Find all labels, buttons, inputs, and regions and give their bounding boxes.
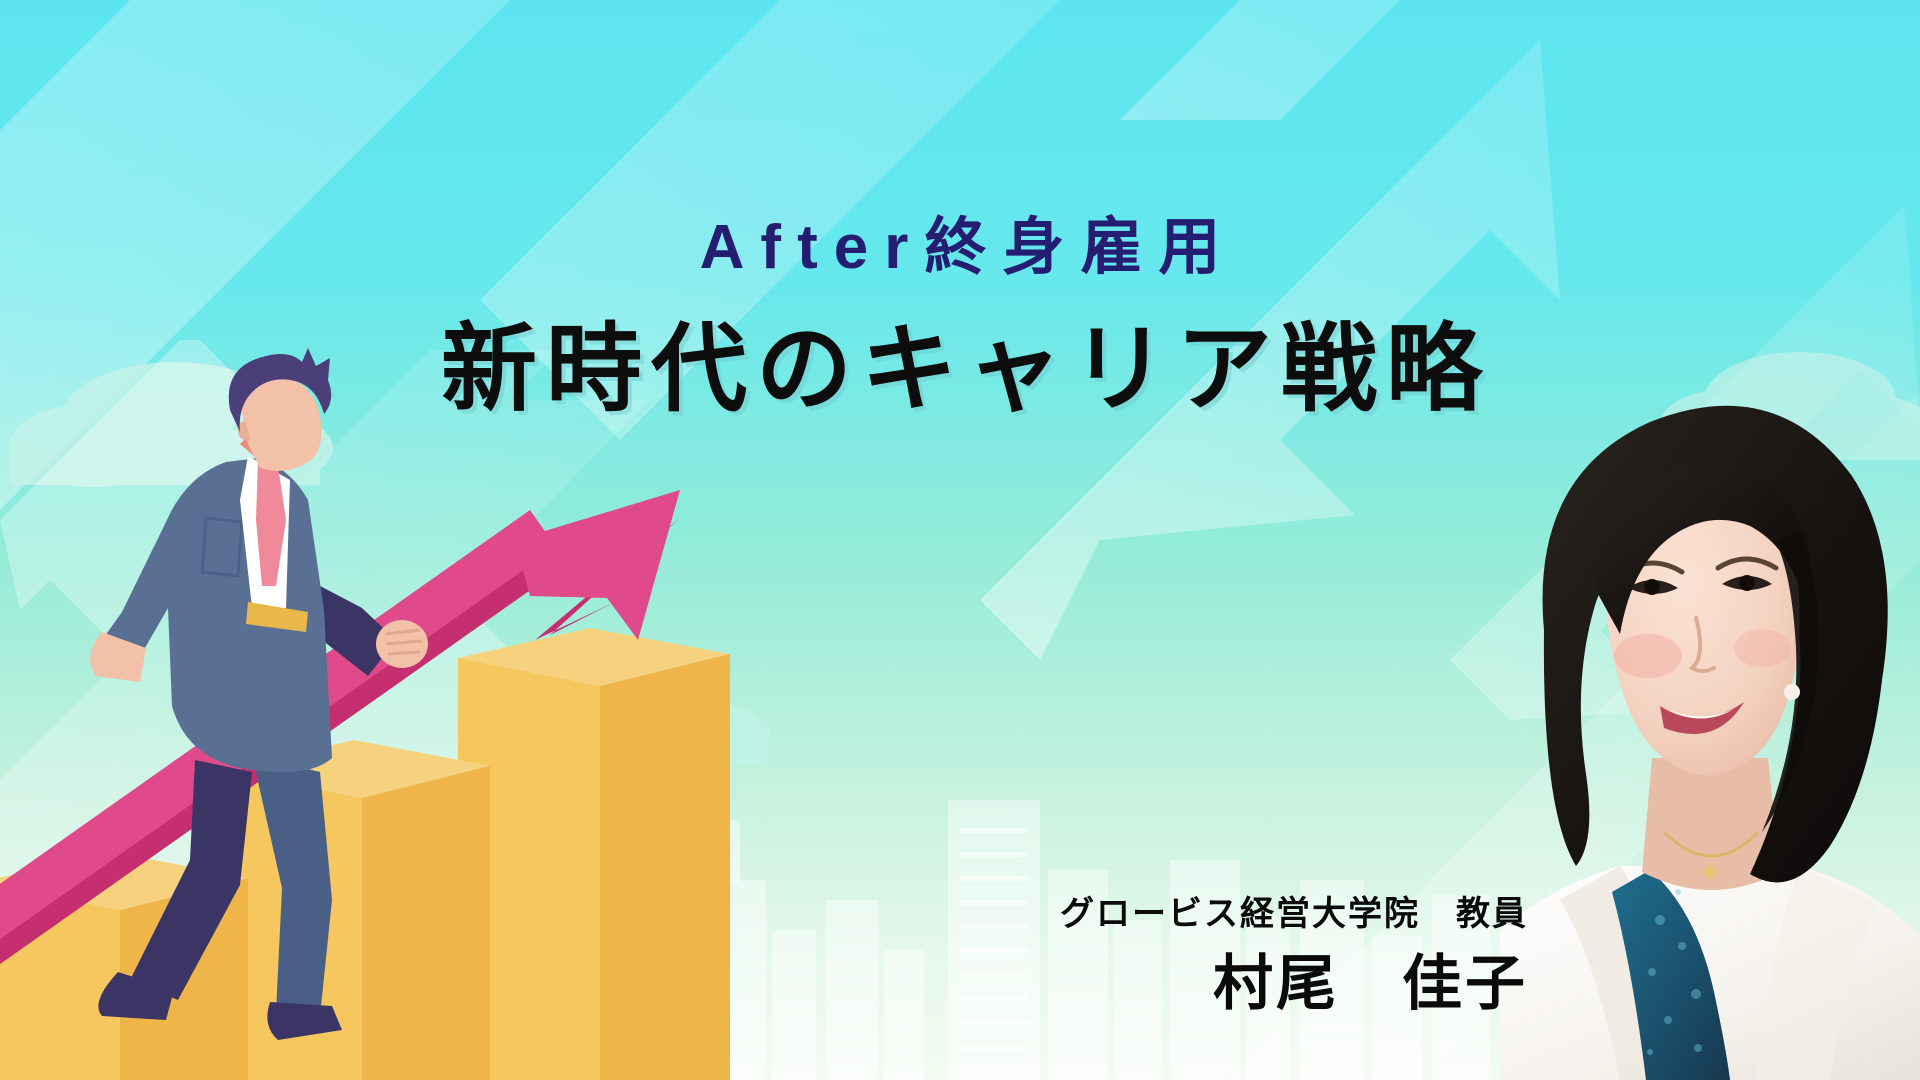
- portrait-cheek-left: [1614, 634, 1682, 678]
- page-title: 新時代のキャリア戦略: [0, 320, 1920, 421]
- speaker-credit: グロービス経営大学院 教員 村尾 佳子: [1060, 894, 1528, 1018]
- bar-step-2-side: [362, 766, 490, 1080]
- fist: [376, 620, 428, 668]
- speaker-portrait: [1500, 380, 1920, 1080]
- speaker-portrait-svg: [1500, 380, 1920, 1080]
- portrait-cheek-right: [1734, 629, 1790, 667]
- speaker-affiliation: グロービス経営大学院 教員: [1060, 894, 1528, 935]
- businessman-climbing-illustration: [0, 340, 730, 1080]
- speaker-name: 村尾 佳子: [1060, 949, 1528, 1018]
- portrait-earring: [1784, 684, 1800, 700]
- banner-stage: After終身雇用 新時代のキャリア戦略 グロービス経営大学院 教員 村尾 佳子: [0, 0, 1920, 1080]
- bar-step-3-side: [600, 654, 730, 1080]
- pink-arrow-head: [515, 490, 680, 640]
- headline-block: After終身雇用 新時代のキャリア戦略: [0, 0, 1920, 421]
- eyebrow-text: After終身雇用: [0, 215, 1920, 280]
- businessman-illustration-svg: [0, 340, 730, 1080]
